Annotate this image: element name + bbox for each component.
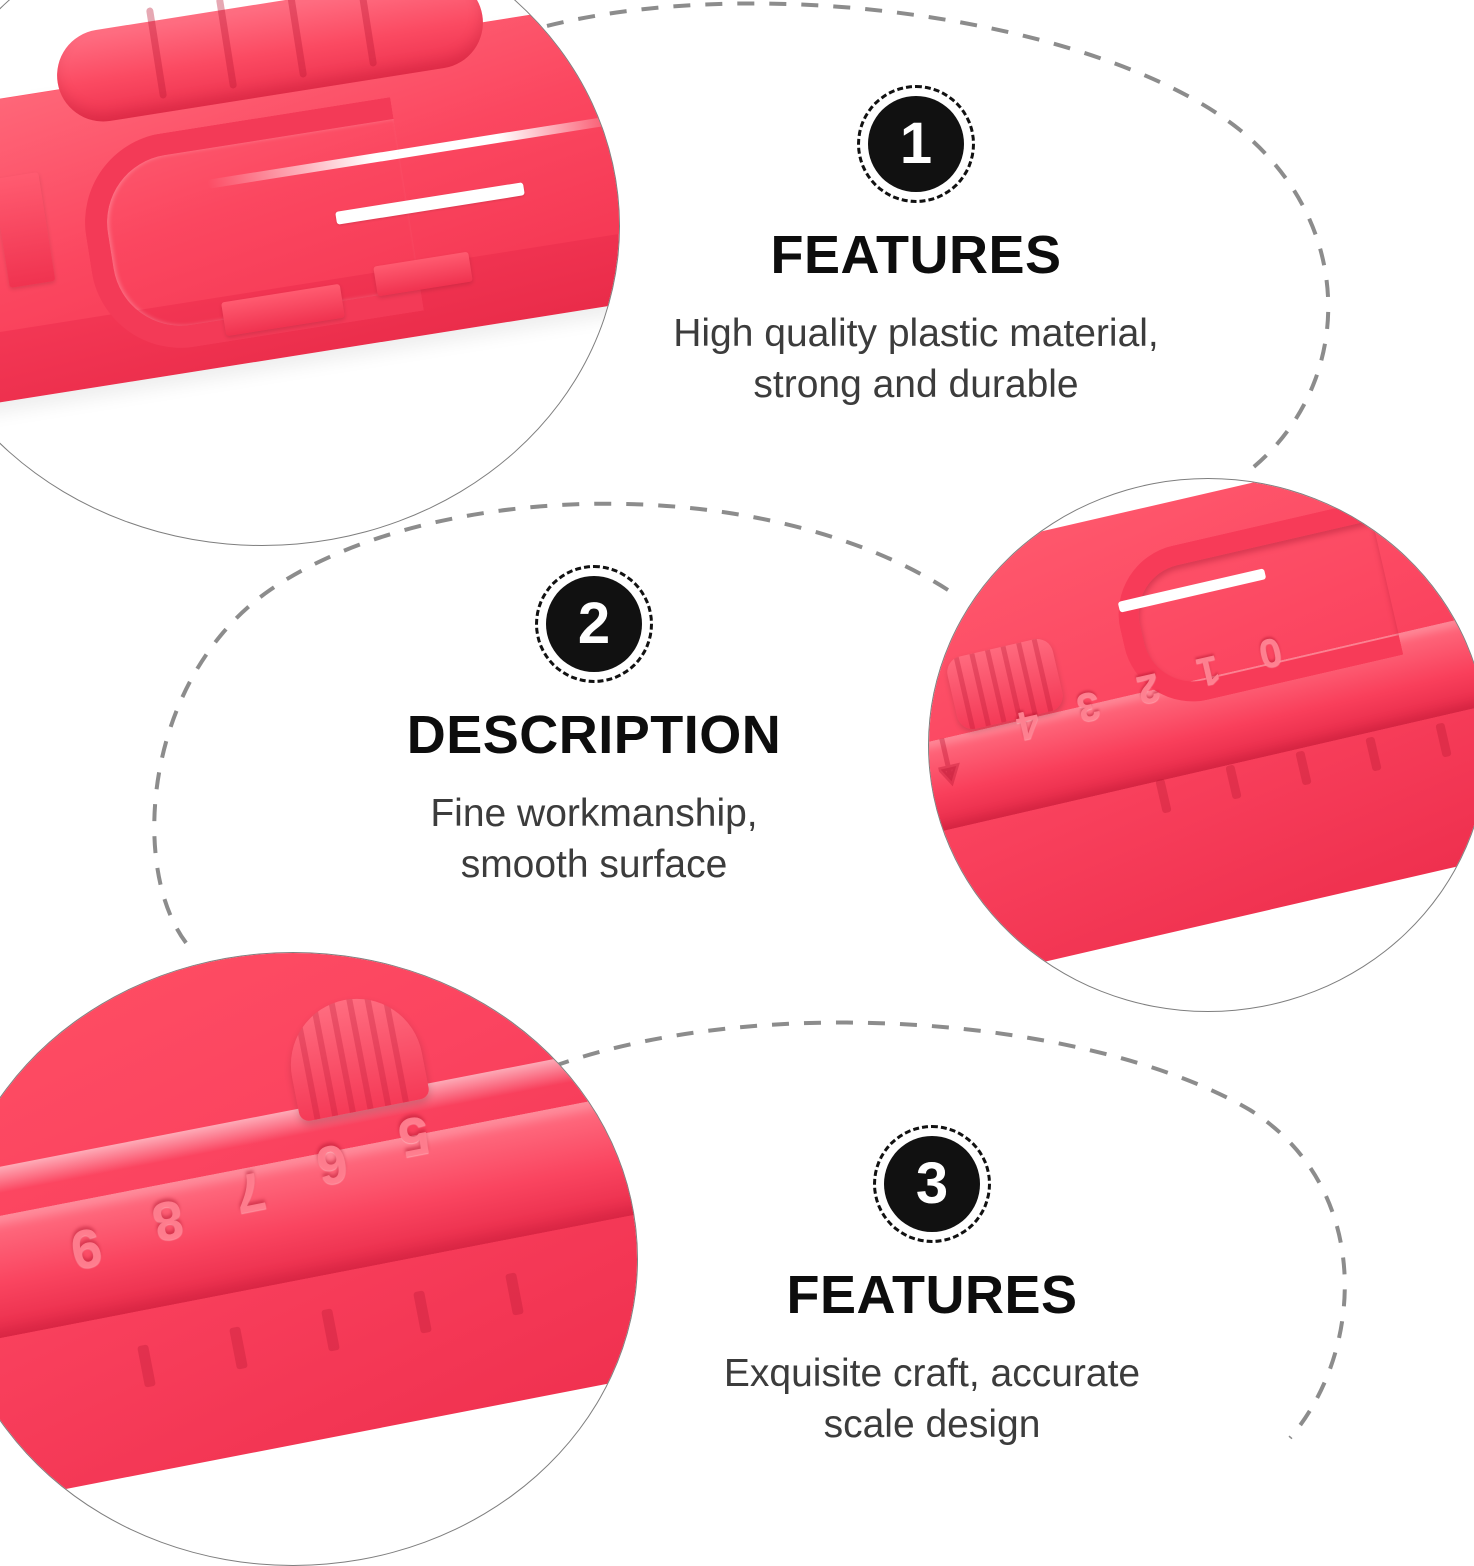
section-1-description: High quality plastic material, strong an…	[660, 308, 1172, 411]
step-badge-1: 1	[868, 96, 964, 192]
step-number-1: 1	[900, 115, 932, 173]
infographic-canvas: 0 1 2 3 4 5 6 7 8	[0, 0, 1474, 1500]
step-number-2: 2	[578, 595, 610, 653]
section-3-heading: FEATURES	[676, 1268, 1188, 1322]
section-1-heading: FEATURES	[660, 228, 1172, 282]
section-2-description-line-2: smooth surface	[338, 839, 850, 890]
section-1-description-line-2: strong and durable	[660, 359, 1172, 410]
product-photo-scale-5-9: 5 6 7 8 9	[0, 952, 638, 1566]
section-3: 3 FEATURES Exquisite craft, accurate sca…	[676, 1136, 1188, 1451]
section-1: 1 FEATURES High quality plastic material…	[660, 96, 1172, 411]
section-2: 2 DESCRIPTION Fine workmanship, smooth s…	[338, 576, 850, 891]
product-photo-scale-0-4: 0 1 2 3 4	[928, 478, 1474, 1012]
step-badge-3: 3	[884, 1136, 980, 1232]
product-photo-handle	[0, 0, 620, 546]
section-3-description-line-2: scale design	[676, 1399, 1188, 1450]
section-3-description-line-1: Exquisite craft, accurate	[676, 1348, 1188, 1399]
section-2-description-line-1: Fine workmanship,	[338, 788, 850, 839]
section-2-description: Fine workmanship, smooth surface	[338, 788, 850, 891]
section-3-description: Exquisite craft, accurate scale design	[676, 1348, 1188, 1451]
section-2-heading: DESCRIPTION	[338, 708, 850, 762]
step-number-3: 3	[916, 1155, 948, 1213]
step-badge-2: 2	[546, 576, 642, 672]
section-1-description-line-1: High quality plastic material,	[660, 308, 1172, 359]
